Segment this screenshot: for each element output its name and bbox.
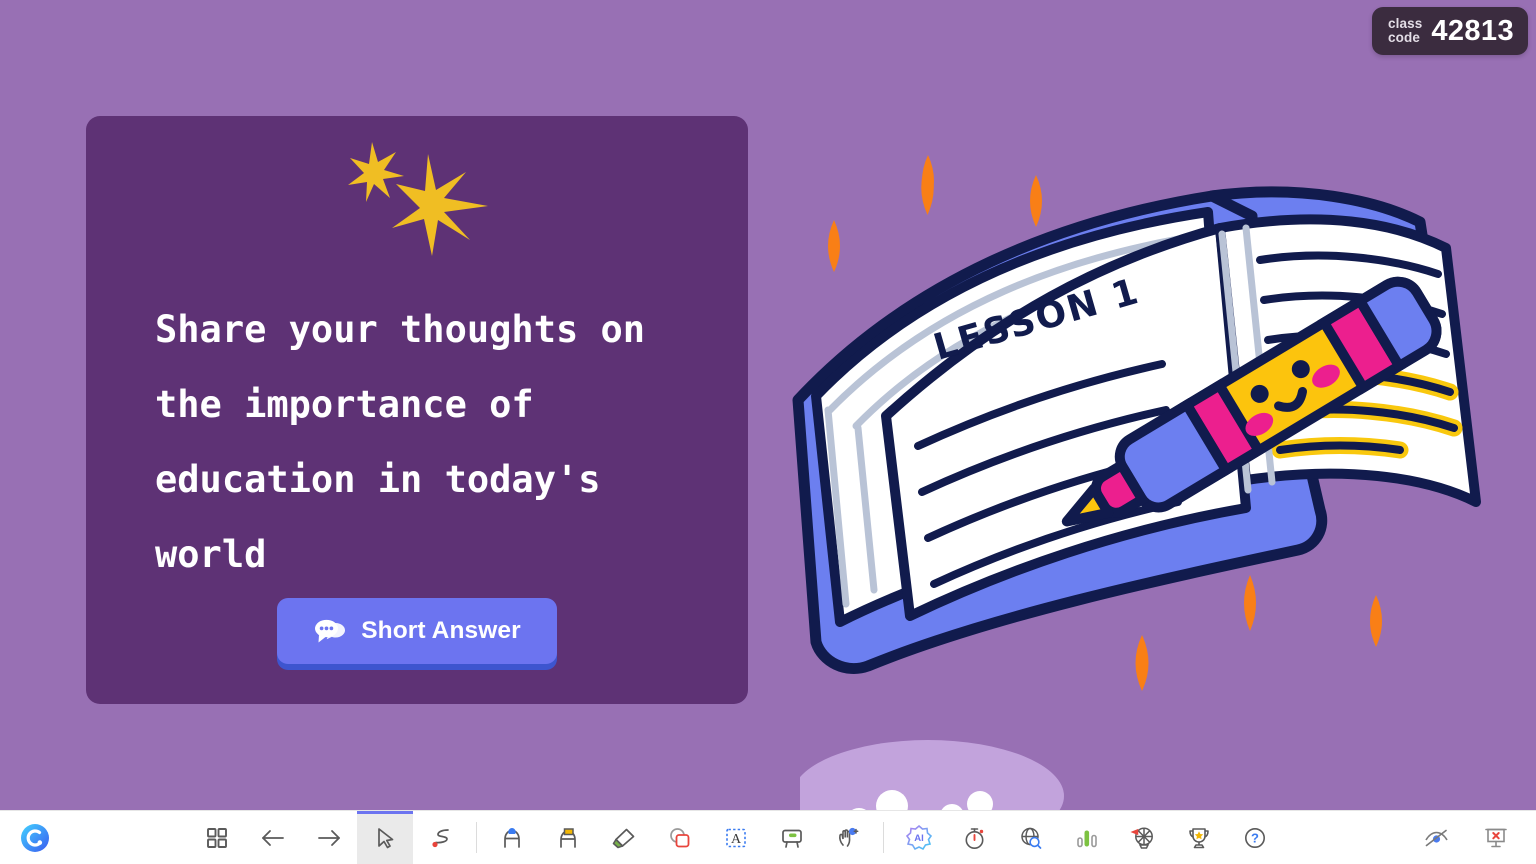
pen-icon[interactable] xyxy=(484,811,540,864)
toolbar-divider xyxy=(476,822,477,853)
class-code-label: class code xyxy=(1388,17,1422,45)
svg-text:AI: AI xyxy=(914,833,924,844)
svg-text:A: A xyxy=(731,832,742,847)
star-sparkles-icon xyxy=(336,136,506,256)
bottom-toolbar: A xyxy=(0,810,1536,864)
whiteboard-icon[interactable] xyxy=(764,811,820,864)
arrow-right-icon[interactable] xyxy=(301,811,357,864)
class-code-label-line2: code xyxy=(1388,31,1422,45)
laser-pointer-icon[interactable] xyxy=(413,811,469,864)
arrow-left-icon[interactable] xyxy=(245,811,301,864)
eraser-icon[interactable] xyxy=(596,811,652,864)
short-answer-button[interactable]: Short Answer xyxy=(277,598,557,664)
class-code-badge: class code 42813 xyxy=(1372,7,1528,55)
toolbar-right-tools xyxy=(1416,811,1536,864)
toolbar-divider xyxy=(883,822,884,853)
book-and-marker-illustration: LESSON 1 xyxy=(760,110,1500,710)
highlighter-icon[interactable] xyxy=(540,811,596,864)
toolbar-tools: A xyxy=(56,811,1416,864)
cursor-select-icon[interactable] xyxy=(357,811,413,864)
help-question-icon[interactable]: ? xyxy=(1227,811,1283,864)
grid-view-icon[interactable] xyxy=(189,811,245,864)
classpoint-logo-icon[interactable] xyxy=(14,811,56,864)
exit-presentation-icon[interactable] xyxy=(1476,826,1516,850)
svg-text:?: ? xyxy=(1251,830,1259,845)
leaderboard-trophy-icon[interactable] xyxy=(1171,811,1227,864)
hide-eye-slash-icon[interactable] xyxy=(1416,826,1456,850)
poll-bar-chart-icon[interactable] xyxy=(1059,811,1115,864)
text-box-icon[interactable]: A xyxy=(708,811,764,864)
ai-icon[interactable]: AI xyxy=(891,811,947,864)
question-card: Share your thoughts on the importance of… xyxy=(86,116,748,704)
speech-bubble-dots-icon xyxy=(313,617,347,645)
short-answer-button-label: Short Answer xyxy=(361,617,521,645)
shapes-icon[interactable] xyxy=(652,811,708,864)
question-prompt-text: Share your thoughts on the importance of… xyxy=(155,292,695,592)
class-code-value: 42813 xyxy=(1431,16,1514,46)
class-code-label-line1: class xyxy=(1388,17,1422,31)
timer-icon[interactable] xyxy=(947,811,1003,864)
browser-search-icon[interactable] xyxy=(1003,811,1059,864)
presentation-stage: class code 42813 Share your thoughts on … xyxy=(0,0,1536,864)
drag-objects-icon[interactable] xyxy=(820,811,876,864)
name-picker-wheel-icon[interactable] xyxy=(1115,811,1171,864)
